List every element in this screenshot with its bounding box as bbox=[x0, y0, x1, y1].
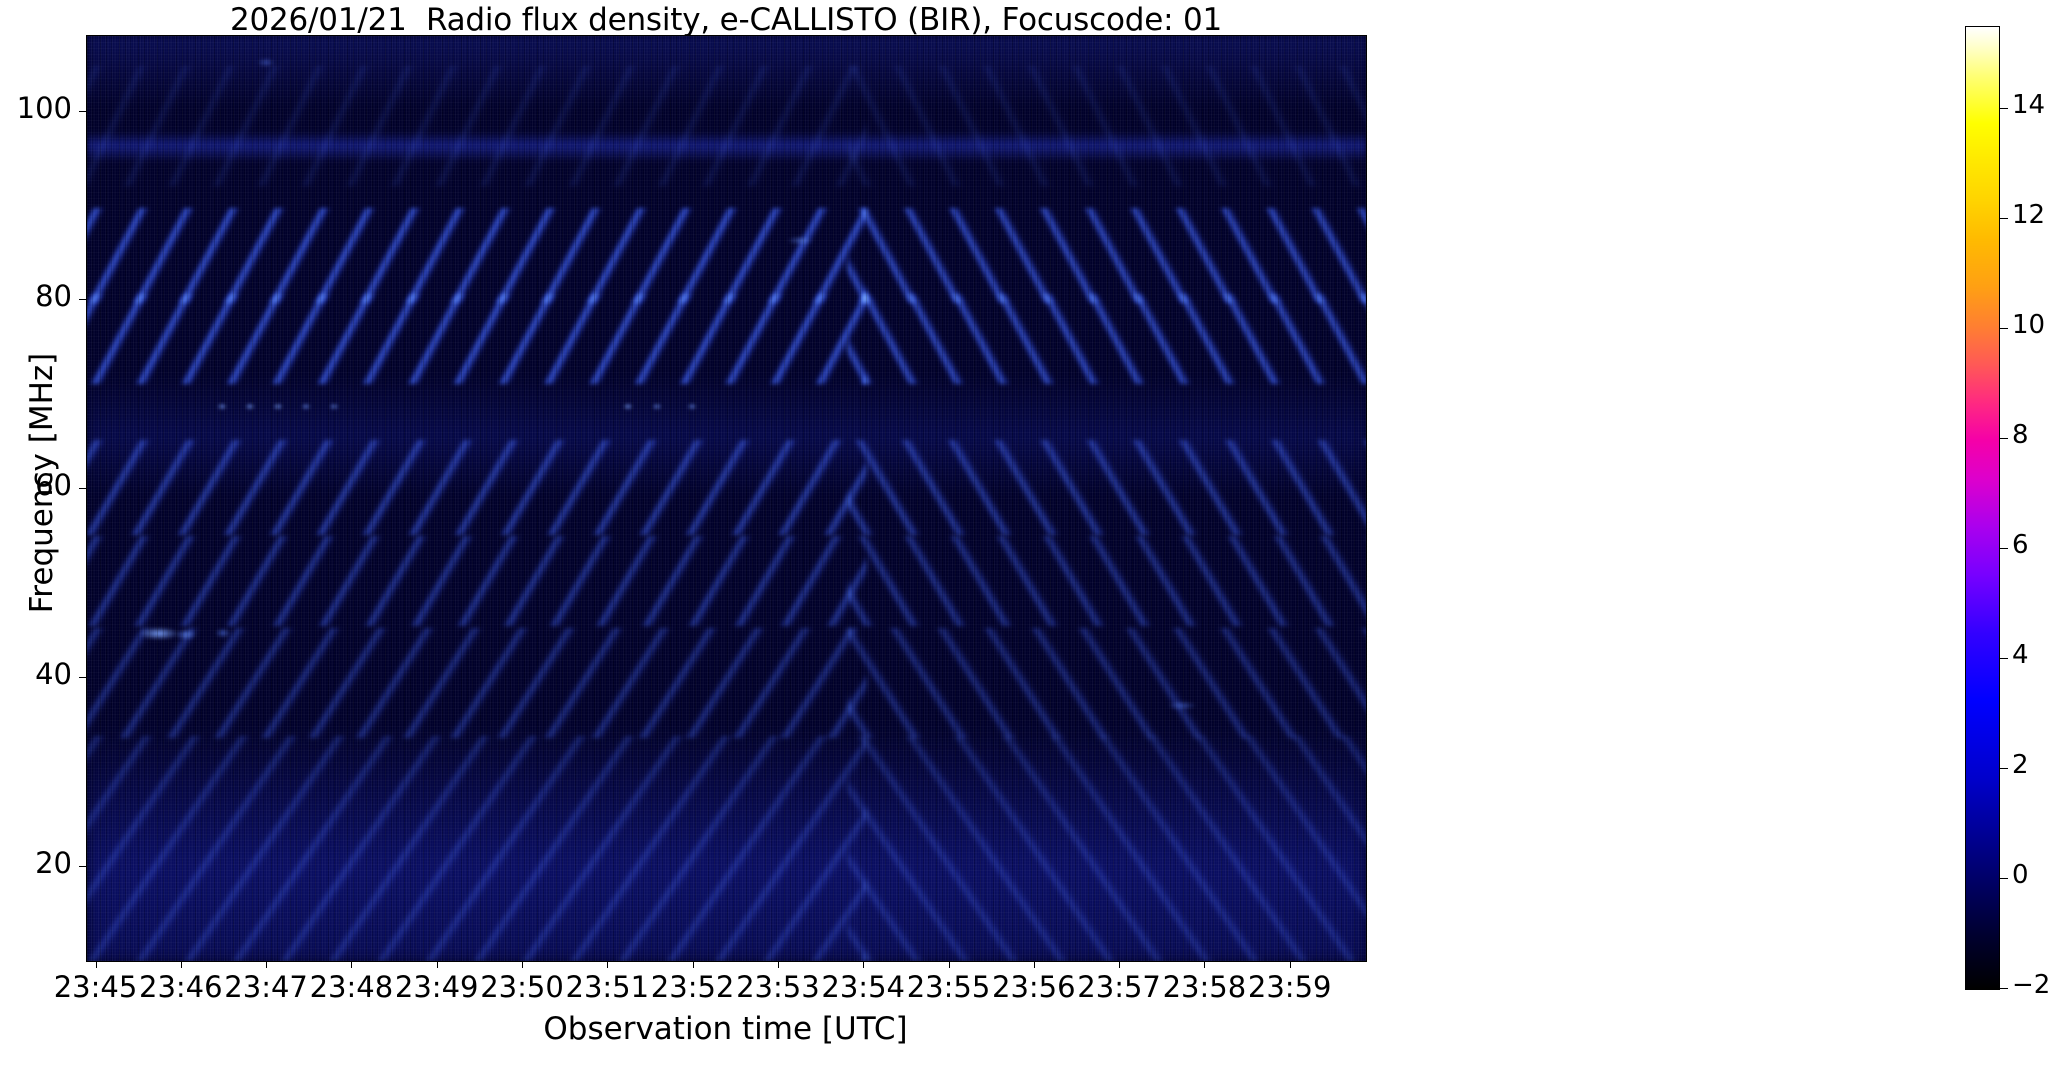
colorbar-tick-mark bbox=[2000, 218, 2008, 219]
colorbar-tick-mark bbox=[2000, 328, 2008, 329]
x-tick-mark bbox=[863, 961, 864, 968]
colorbar-tick-mark bbox=[2000, 768, 2008, 769]
y-tick-mark bbox=[79, 299, 86, 300]
spectrogram-axes[interactable] bbox=[86, 35, 1367, 962]
colorbar-tick-mark bbox=[2000, 108, 2008, 109]
colorbar-tick-label: 6 bbox=[2012, 530, 2029, 560]
spectrogram-figure: 2026/01/21 Radio flux density, e-CALLIST… bbox=[0, 0, 2066, 1067]
x-tick-mark bbox=[693, 961, 694, 968]
y-tick-mark bbox=[79, 488, 86, 489]
page-title: 2026/01/21 Radio flux density, e-CALLIST… bbox=[0, 2, 1452, 38]
x-tick-mark bbox=[1034, 961, 1035, 968]
x-tick-mark bbox=[949, 961, 950, 968]
spectrogram-image bbox=[87, 36, 1366, 961]
x-tick-mark bbox=[1290, 961, 1291, 968]
colorbar-tick-label: 10 bbox=[2012, 310, 2045, 340]
x-tick-mark bbox=[607, 961, 608, 968]
y-tick-mark bbox=[79, 111, 86, 112]
x-tick-mark bbox=[778, 961, 779, 968]
y-tick-mark bbox=[79, 677, 86, 678]
x-tick-mark bbox=[266, 961, 267, 968]
x-tick-mark bbox=[181, 961, 182, 968]
y-axis-label: Frequency [MHz] bbox=[24, 203, 60, 763]
colorbar-tick-mark bbox=[2000, 548, 2008, 549]
colorbar-tick-mark bbox=[2000, 988, 2008, 989]
colorbar-tick-label: 14 bbox=[2012, 90, 2045, 120]
x-tick-label: 23:59 bbox=[1210, 970, 1370, 1004]
colorbar-tick-mark bbox=[2000, 658, 2008, 659]
colorbar-tick-label: −2 bbox=[2012, 970, 2050, 1000]
x-tick-mark bbox=[96, 961, 97, 968]
colorbar-tick-label: 0 bbox=[2012, 860, 2029, 890]
colorbar-tick-label: 12 bbox=[2012, 200, 2045, 230]
noise-row-texture bbox=[87, 36, 1366, 961]
x-tick-mark bbox=[522, 961, 523, 968]
colorbar-tick-mark bbox=[2000, 438, 2008, 439]
x-tick-mark bbox=[1204, 961, 1205, 968]
colorbar-tick-label: 4 bbox=[2012, 640, 2029, 670]
y-tick-label: 100 bbox=[0, 91, 72, 125]
x-tick-mark bbox=[437, 961, 438, 968]
colorbar-tick-label: 8 bbox=[2012, 420, 2029, 450]
colorbar-tick-mark bbox=[2000, 878, 2008, 879]
x-axis-label: Observation time [UTC] bbox=[86, 1011, 1365, 1047]
y-tick-label: 20 bbox=[0, 846, 72, 880]
colorbar[interactable] bbox=[1965, 26, 2000, 990]
x-tick-mark bbox=[351, 961, 352, 968]
y-tick-mark bbox=[79, 866, 86, 867]
colorbar-tick-label: 2 bbox=[2012, 750, 2029, 780]
x-tick-mark bbox=[1119, 961, 1120, 968]
